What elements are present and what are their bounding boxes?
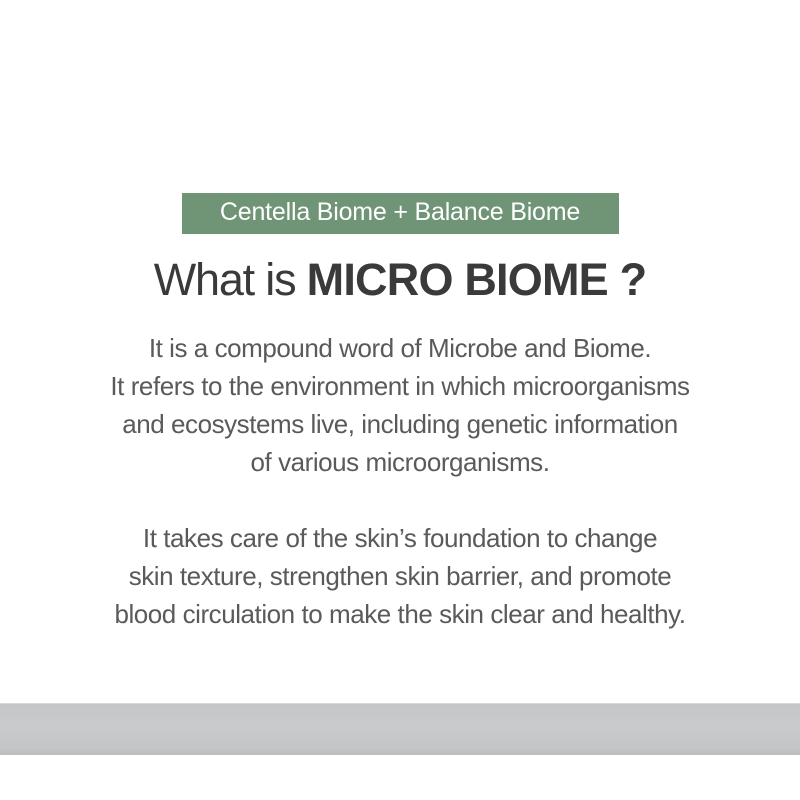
paragraph-2-line-3: blood circulation to make the skin clear… <box>0 595 800 633</box>
page-title-prefix: What is <box>154 254 307 305</box>
page-title-emphasis: MICRO BIOME ? <box>307 254 647 305</box>
paragraph-1-line-1: It is a compound word of Microbe and Bio… <box>0 329 800 367</box>
paragraph-1-line-2: It refers to the environment in which mi… <box>0 367 800 405</box>
banner-row: Centella Biome + Balance Biome <box>0 193 800 234</box>
body-paragraph-2: It takes care of the skin’s foundation t… <box>0 519 800 633</box>
paragraph-1-line-3: and ecosystems live, including genetic i… <box>0 405 800 443</box>
footer-gray-band <box>0 703 800 755</box>
page-title: What is MICRO BIOME ? <box>0 256 800 303</box>
paragraph-gap <box>0 481 800 519</box>
paragraph-2-line-1: It takes care of the skin’s foundation t… <box>0 519 800 557</box>
footer-white-strip <box>0 755 800 800</box>
paragraph-2-line-2: skin texture, strengthen skin barrier, a… <box>0 557 800 595</box>
top-spacer <box>0 0 800 193</box>
product-label-banner: Centella Biome + Balance Biome <box>182 193 619 234</box>
body-paragraph-1: It is a compound word of Microbe and Bio… <box>0 329 800 481</box>
infographic-panel: Centella Biome + Balance Biome What is M… <box>0 0 800 800</box>
paragraph-1-line-4: of various microorganisms. <box>0 443 800 481</box>
